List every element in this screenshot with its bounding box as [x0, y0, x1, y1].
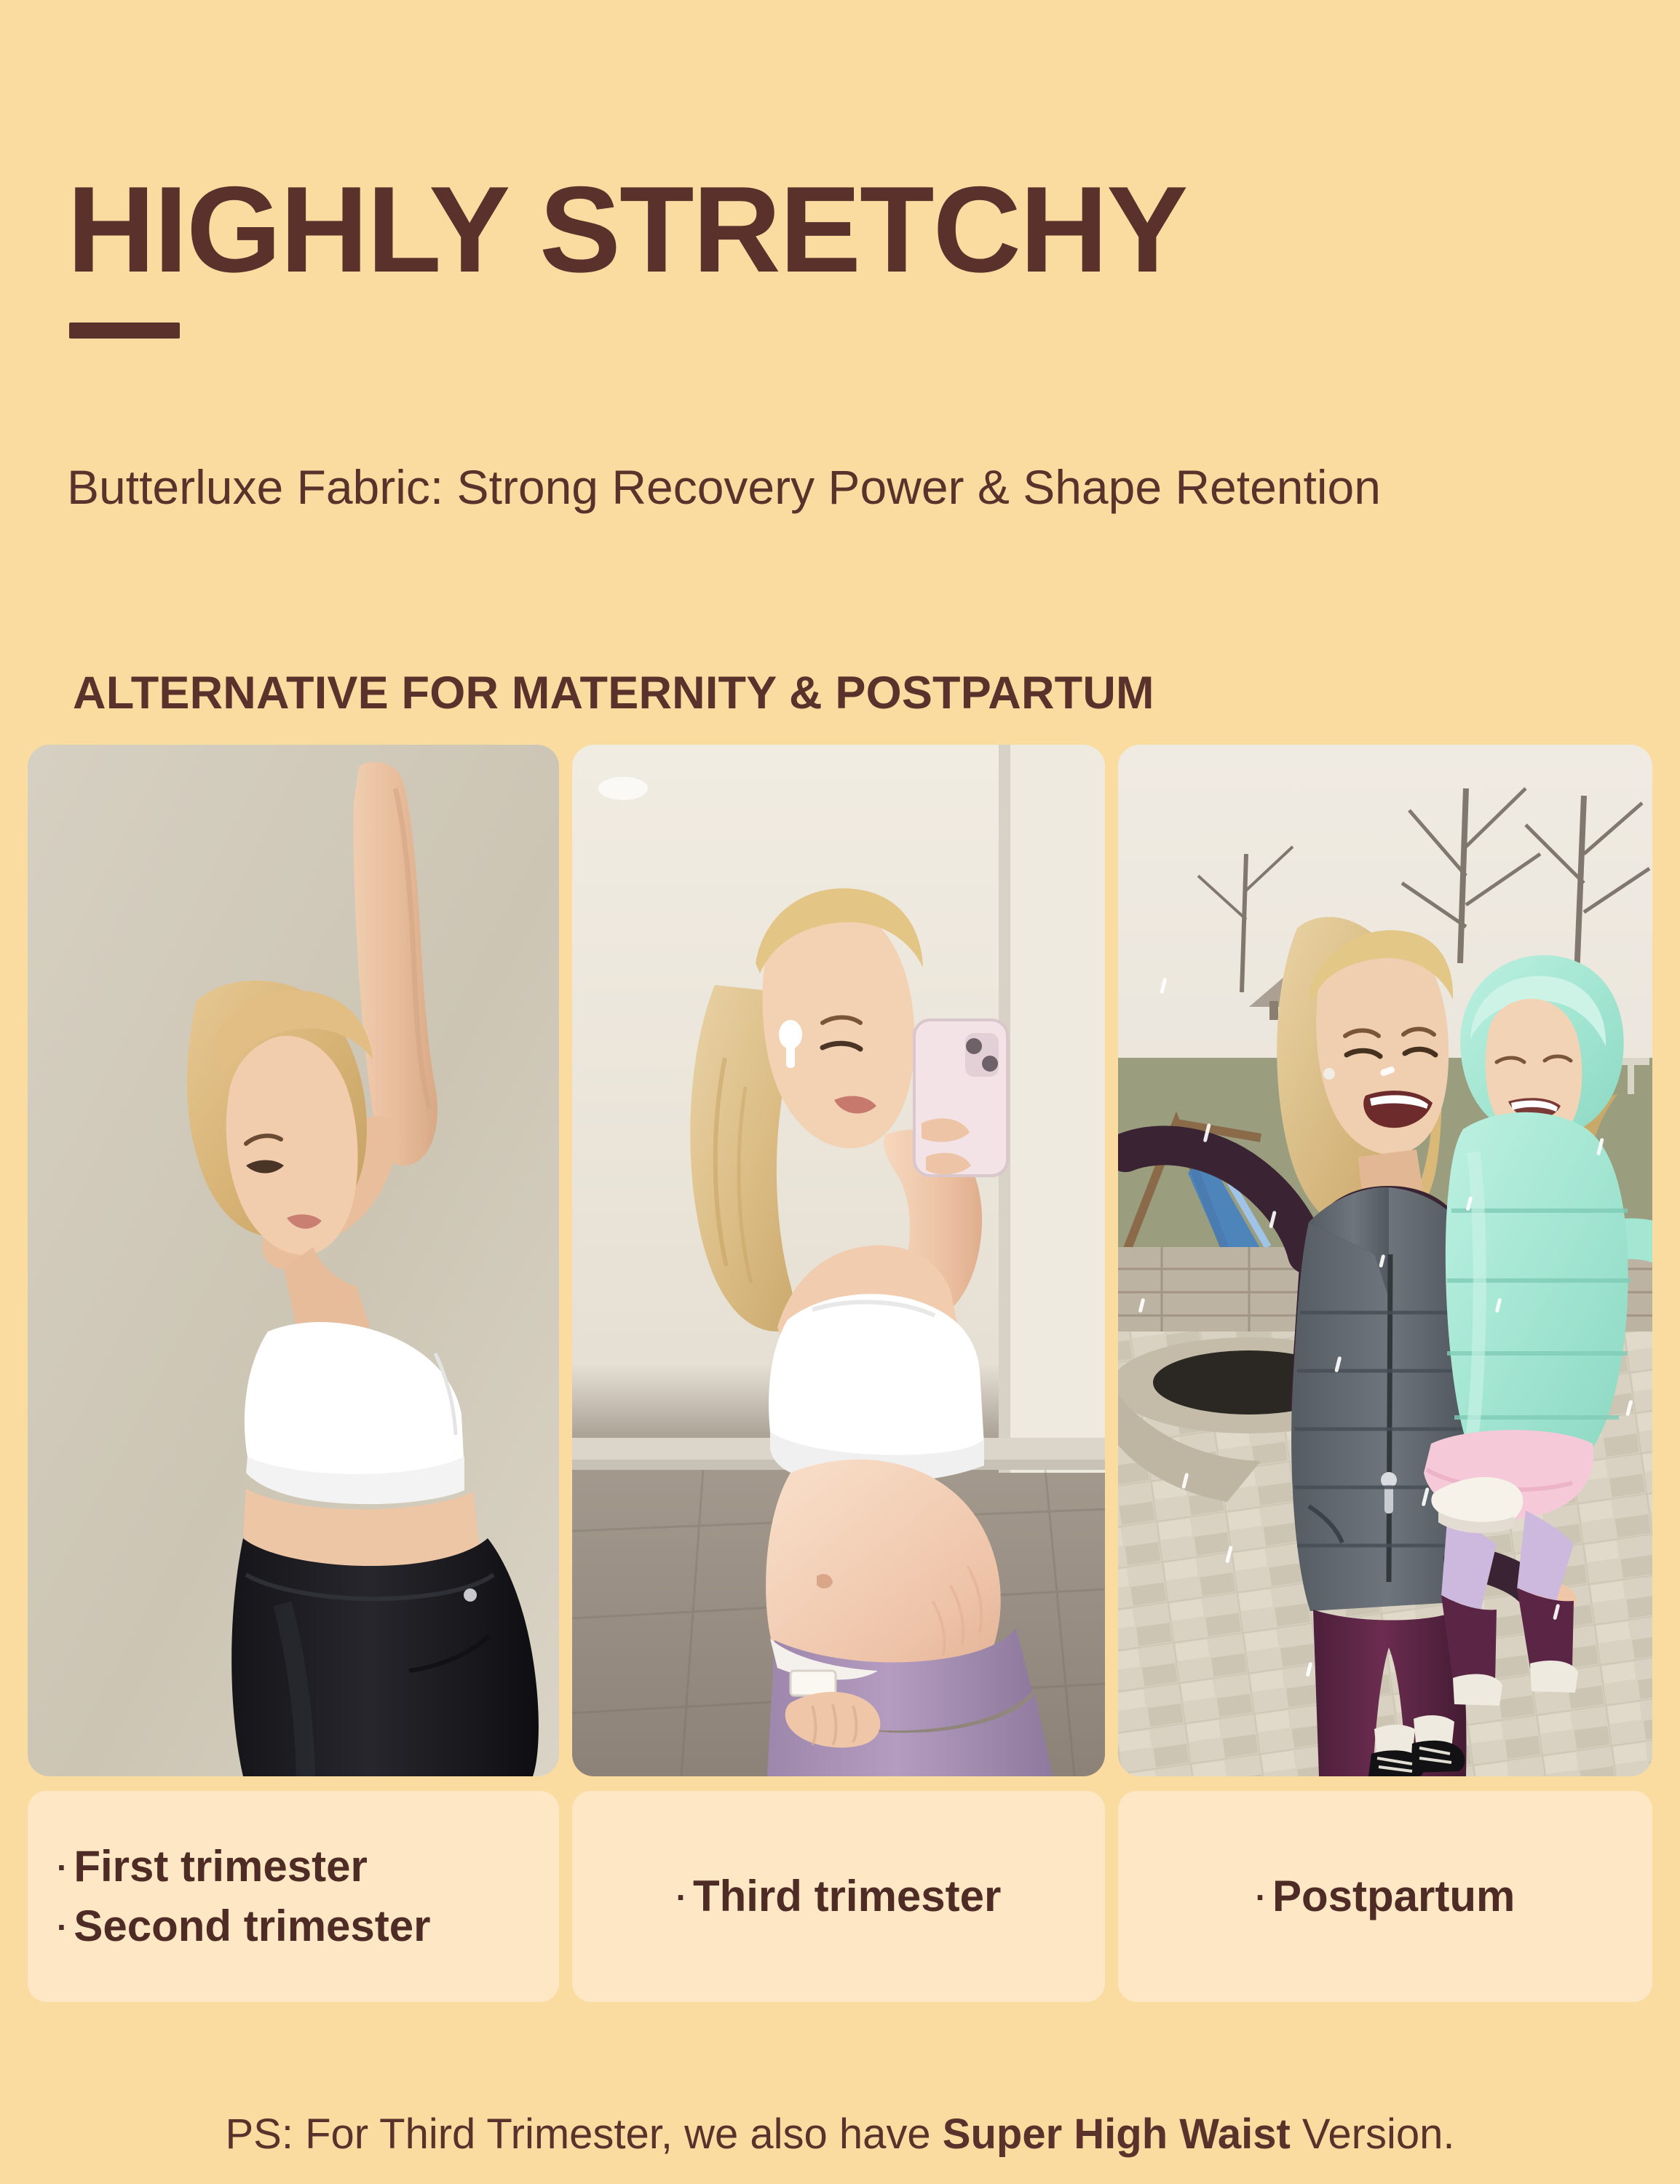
caption-box-third-trimester: ·Third trimester — [572, 1791, 1105, 2002]
postscript-prefix: PS: For Third Trimester, we also have — [226, 2110, 943, 2158]
caption-text: Second trimester — [74, 1902, 430, 1950]
photo-postpartum — [1118, 745, 1652, 1776]
photo-third-trimester — [572, 745, 1105, 1776]
caption-box-postpartum: ·Postpartum — [1118, 1791, 1652, 2002]
bullet-icon: · — [676, 1878, 687, 1916]
caption-line: ·First trimester — [57, 1837, 368, 1896]
caption-row: ·First trimester ·Second trimester ·Thir… — [28, 1791, 1652, 2002]
alternative-use-heading: ALTERNATIVE FOR MATERNITY & POSTPARTUM — [73, 668, 1623, 719]
caption-text: Third trimester — [693, 1872, 1001, 1920]
bullet-icon: · — [57, 1908, 68, 1946]
promo-page: HIGHLY STRETCHY Butterluxe Fabric: Stron… — [0, 0, 1680, 2184]
caption-box-first-second-trimester: ·First trimester ·Second trimester — [28, 1791, 559, 2002]
caption-line: ·Postpartum — [1256, 1867, 1515, 1926]
accent-rule-divider — [69, 323, 180, 339]
bullet-icon: · — [57, 1848, 68, 1886]
photo-first-second-trimester — [28, 745, 559, 1776]
caption-line: ·Second trimester — [57, 1896, 431, 1956]
postscript-emphasis: Super High Waist — [943, 2110, 1291, 2158]
caption-line: ·Third trimester — [676, 1867, 1002, 1926]
postscript-suffix: Version. — [1291, 2110, 1455, 2158]
photo-strip — [28, 745, 1652, 1776]
caption-text: Postpartum — [1272, 1872, 1515, 1920]
subheading-text: Butterluxe Fabric: Strong Recovery Power… — [67, 456, 1450, 519]
caption-text: First trimester — [74, 1842, 367, 1891]
page-title: HIGHLY STRETCHY — [67, 168, 1186, 290]
bullet-icon: · — [1256, 1878, 1267, 1916]
postscript-note: PS: For Third Trimester, we also have Su… — [0, 2110, 1680, 2159]
